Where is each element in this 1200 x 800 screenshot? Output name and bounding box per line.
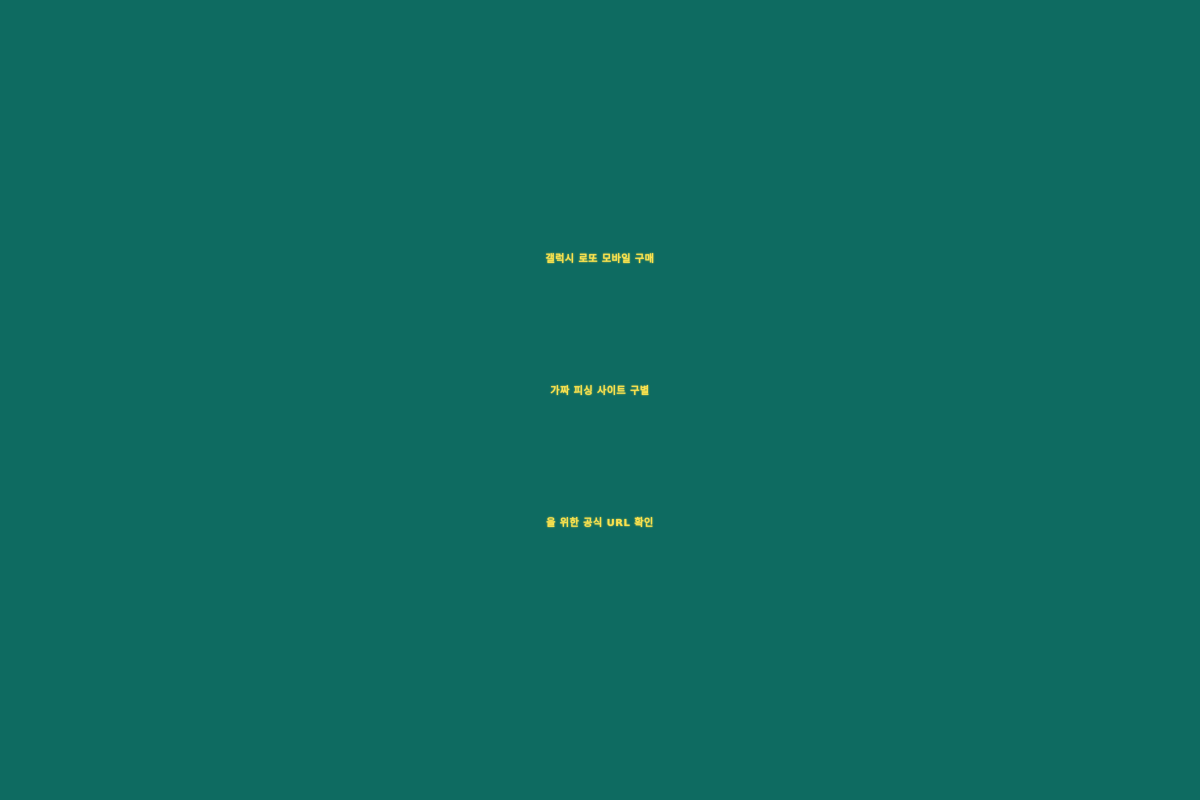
banner-canvas: 갤럭시 로또 모바일 구매 가짜 피싱 사이트 구별 을 위한 공식 URL 확… — [0, 0, 1200, 800]
headline-line-2: 가짜 피싱 사이트 구별 — [24, 326, 1176, 458]
headline-block: 갤럭시 로또 모바일 구매 가짜 피싱 사이트 구별 을 위한 공식 URL 확… — [0, 194, 1200, 590]
headline-line-3: 을 위한 공식 URL 확인 — [24, 458, 1176, 590]
headline-line-1: 갤럭시 로또 모바일 구매 — [24, 194, 1176, 326]
